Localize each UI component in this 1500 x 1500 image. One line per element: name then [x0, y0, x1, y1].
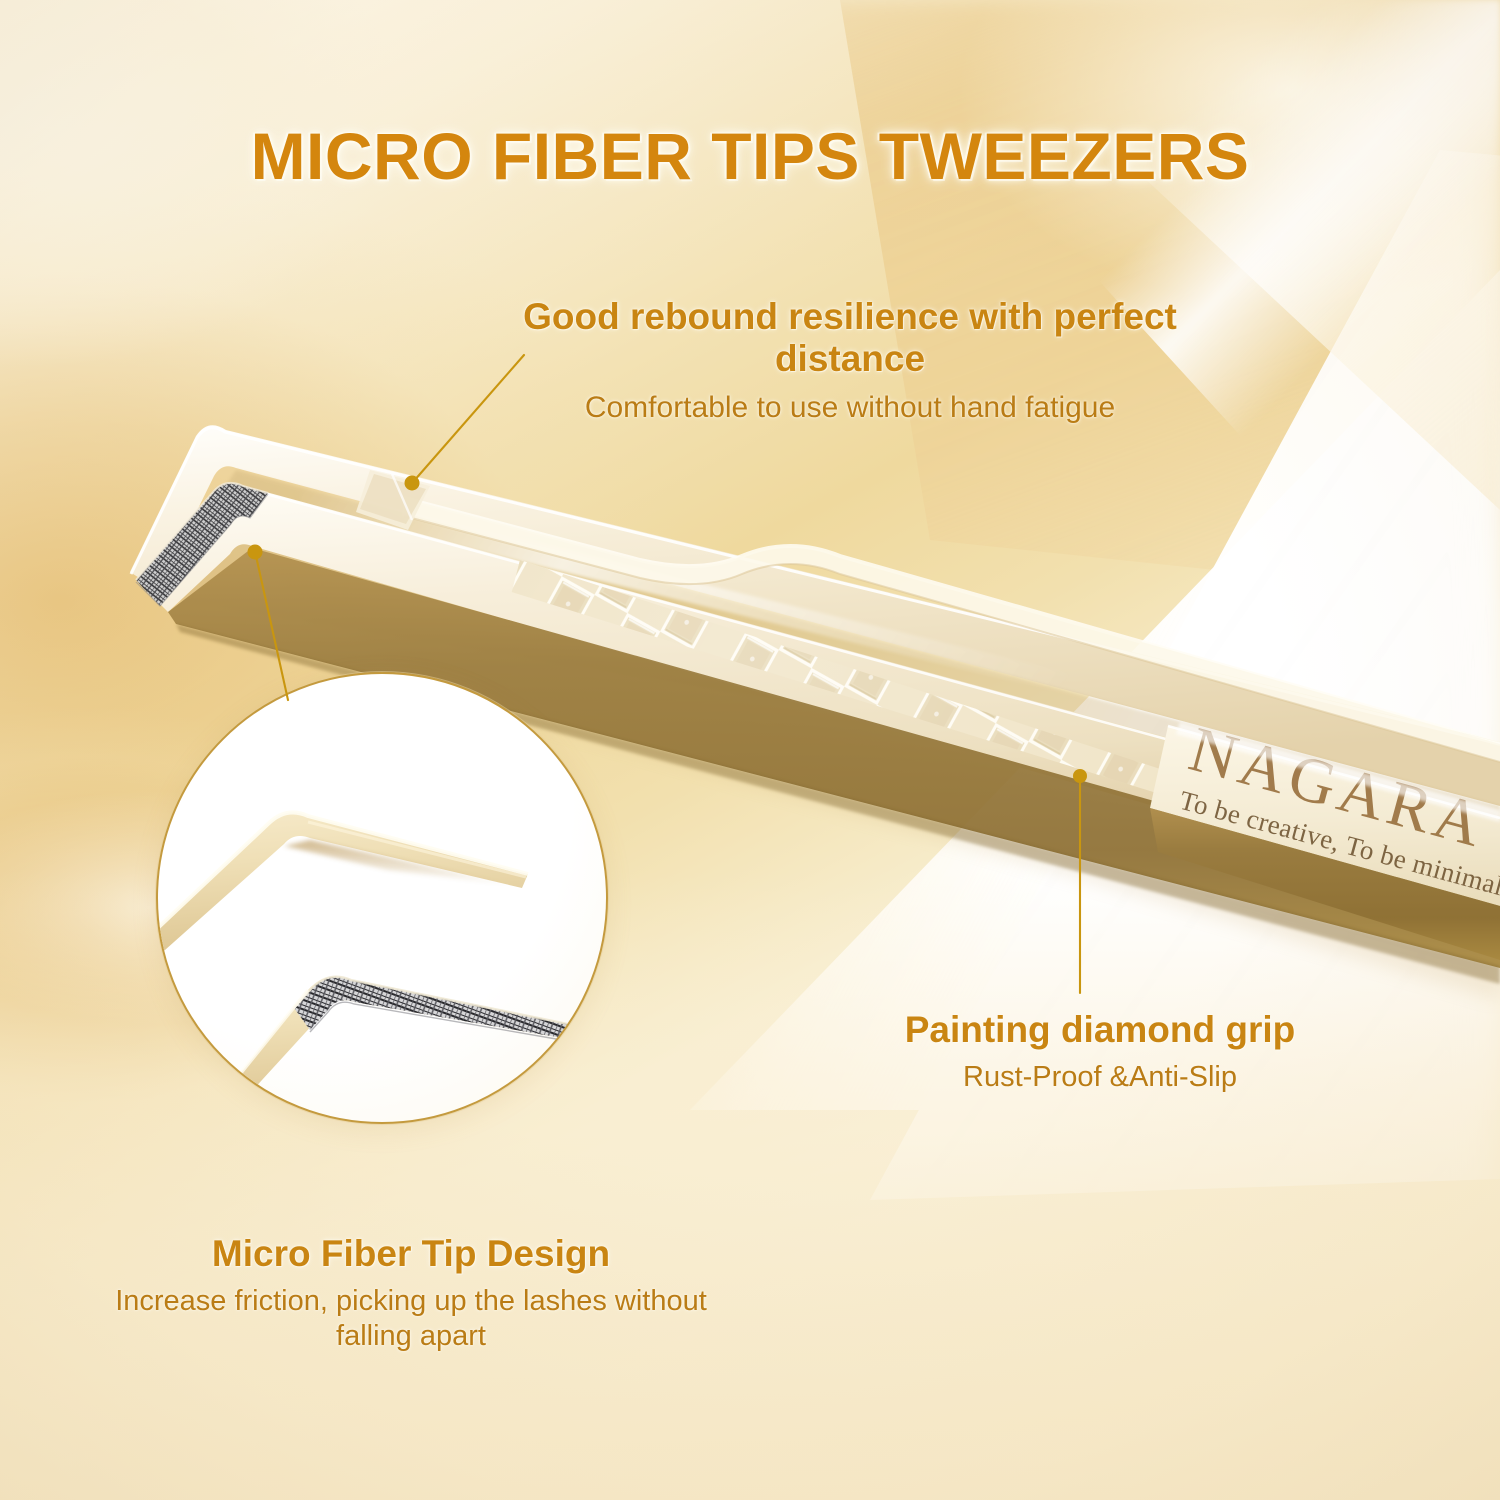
callout-tip: Micro Fiber Tip Design Increase friction… — [86, 1233, 736, 1355]
zoom-upper-tip — [158, 812, 528, 974]
tip-detail-magnifier — [156, 672, 608, 1124]
callout-tip-subtext: Increase friction, picking up the lashes… — [86, 1284, 736, 1355]
callout-rebound-subtext: Comfortable to use without hand fatigue — [500, 390, 1200, 427]
page-title: MICRO FIBER TIPS TWEEZERS — [0, 118, 1500, 194]
infographic-canvas: NAGARA To be creative, To be minimalist,… — [0, 0, 1500, 1500]
callout-grip: Painting diamond grip Rust-Proof &Anti-S… — [820, 1009, 1380, 1095]
callout-grip-heading: Painting diamond grip — [820, 1009, 1380, 1051]
zoom-lower-tip-mesh — [198, 977, 568, 1124]
callout-tip-heading: Micro Fiber Tip Design — [86, 1233, 736, 1275]
callout-rebound: Good rebound resilience with perfect dis… — [500, 296, 1200, 426]
callout-grip-subtext: Rust-Proof &Anti-Slip — [820, 1060, 1380, 1095]
callout-rebound-heading: Good rebound resilience with perfect dis… — [500, 296, 1200, 380]
